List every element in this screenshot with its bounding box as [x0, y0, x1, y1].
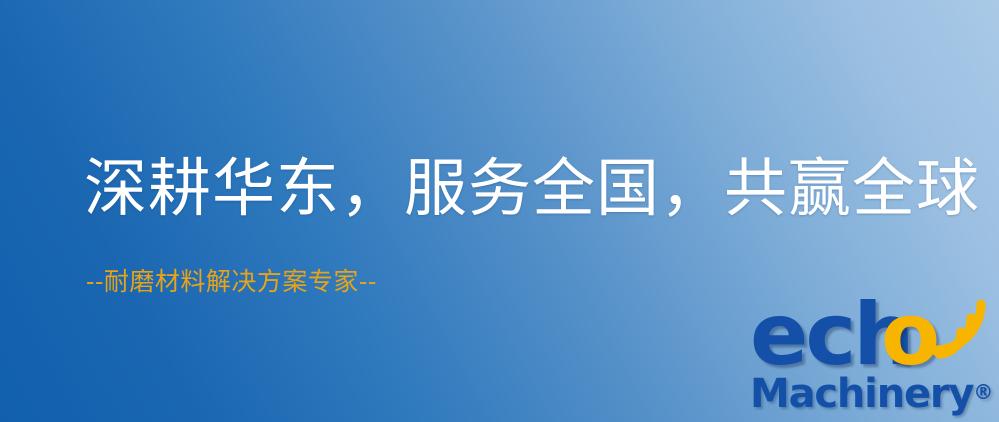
- signal-waves-icon: [931, 290, 999, 362]
- logo-tagline-text: Machinery: [750, 371, 973, 417]
- logo-wordmark: ech o: [748, 296, 999, 380]
- registered-trademark-icon: ®: [973, 380, 993, 404]
- logo-tagline: Machinery®: [750, 370, 993, 416]
- banner-headline: 深耕华东，服务全国，共赢全球: [84, 152, 980, 226]
- company-logo[interactable]: ech o Machinery®: [748, 296, 999, 422]
- banner-subtitle: --耐磨材料解决方案专家--: [86, 266, 377, 298]
- promotional-banner: 深耕华东，服务全国，共赢全球 --耐磨材料解决方案专家-- ech o Mach…: [0, 0, 999, 422]
